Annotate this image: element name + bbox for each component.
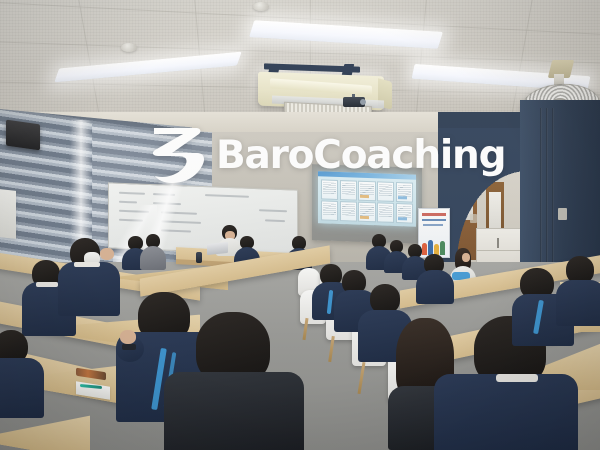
slide-title-bar (318, 171, 416, 179)
wall-notice-paper (0, 189, 16, 239)
slide-thumbnail (321, 201, 338, 221)
slide-thumbnail (396, 203, 413, 223)
projected-slide (318, 171, 416, 226)
slide-thumbnail (321, 179, 338, 199)
slide-thumbnail (377, 203, 394, 223)
slide-thumbnail (358, 181, 375, 201)
wall-speaker (6, 120, 40, 151)
wall-poster (418, 208, 450, 258)
slide-thumbnail-grid (321, 179, 413, 223)
slide-thumbnail (340, 201, 357, 221)
smoke-detector-left (121, 43, 137, 52)
ceiling-projector (343, 94, 367, 108)
projection-screen (312, 164, 422, 244)
presenter-laptop (207, 242, 228, 255)
slide-thumbnail (396, 182, 413, 202)
slide-thumbnail (377, 181, 394, 201)
water-bottle-front (196, 252, 202, 263)
smoke-detector-center (253, 2, 269, 11)
wall-outlet-arch[interactable] (470, 214, 477, 223)
slide-thumbnail (358, 202, 375, 222)
wristwatch (122, 344, 136, 350)
wall-outlet-right[interactable] (558, 208, 567, 220)
arch-lip (438, 128, 528, 266)
classroom-photo: BaroCoaching (0, 0, 600, 450)
slide-thumbnail (340, 180, 357, 200)
